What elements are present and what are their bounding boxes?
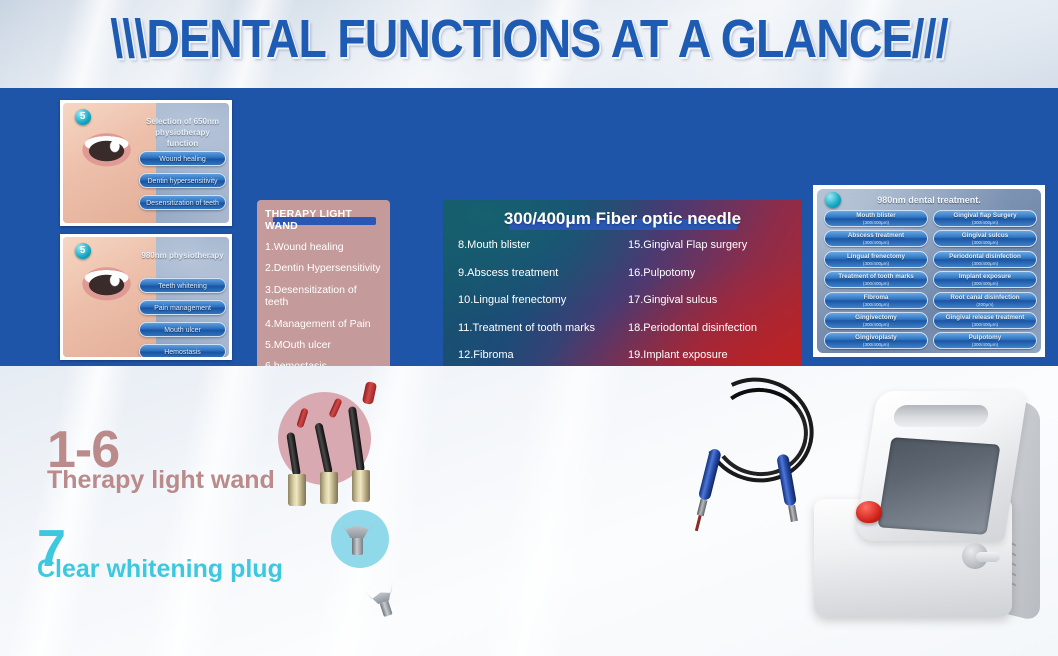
features-blue-band: 5 Selection of 650nm physiotherapy funct… bbox=[0, 88, 1058, 366]
980nm-button-column-right: Gingival flap Surgery (300/400μm) Gingiv… bbox=[933, 210, 1037, 353]
980nm-button-label: Abscess treatment bbox=[825, 231, 927, 240]
980nm-button-spec: (300/400μm) bbox=[934, 342, 1036, 348]
fiber-list-item: 8.Mouth blister bbox=[458, 240, 618, 251]
980nm-button-spec: (300/400μm) bbox=[934, 240, 1036, 246]
980nm-button-label: Gingivoplasty bbox=[825, 333, 927, 342]
page-header: \\\DENTAL FUNCTIONS AT A GLANCE/// bbox=[0, 0, 1058, 88]
980nm-card-title: 980nm dental treatment. bbox=[817, 195, 1041, 205]
therapy-light-wand-heading: THERAPY LIGHT WAND bbox=[265, 208, 382, 232]
980nm-button[interactable]: Gingivoplasty (300/400μm) bbox=[824, 332, 928, 349]
980nm-button-spec: (300/400μm) bbox=[934, 220, 1036, 226]
wand-list-item: 1.Wound healing bbox=[265, 241, 382, 253]
980nm-button-label: Fibroma bbox=[825, 293, 927, 302]
wand-base bbox=[352, 470, 370, 502]
whitening-plug-funnel bbox=[363, 580, 403, 620]
pill-button[interactable]: Hemostasis bbox=[139, 344, 225, 357]
group-label-clear-whitening-plug: Clear whitening plug bbox=[37, 555, 283, 584]
wand-base bbox=[288, 474, 306, 506]
wand-list-item: 3.Desensitization of teeth bbox=[265, 284, 382, 309]
fiber-list-item: 19.Implant exposure bbox=[628, 350, 802, 361]
fiber-list-item: 10.Lingual frenectomy bbox=[458, 295, 618, 306]
badge-icon: 5 bbox=[75, 243, 91, 259]
pill-button[interactable]: Teeth whitening bbox=[139, 278, 225, 293]
pill-button[interactable]: Pain management bbox=[139, 300, 225, 315]
980nm-button[interactable]: Lingual frenectomy (300/400μm) bbox=[824, 251, 928, 268]
980nm-button-label: Gingival sulcus bbox=[934, 231, 1036, 240]
980nm-dental-treatment-card: 980nm dental treatment. Mouth blister (3… bbox=[813, 185, 1045, 357]
fiber-list-item: 16.Pulpotomy bbox=[628, 268, 802, 279]
980nm-button-spec: (300/400μm) bbox=[825, 342, 927, 348]
wand-body bbox=[286, 432, 301, 477]
photo-card-650nm: 5 Selection of 650nm physiotherapy funct… bbox=[60, 100, 232, 226]
card-title-650nm: Selection of 650nm physiotherapy functio… bbox=[139, 117, 225, 149]
980nm-button-spec: (300/400μm) bbox=[934, 261, 1036, 267]
980nm-button-label: Root canal disinfection bbox=[934, 293, 1036, 302]
980nm-button[interactable]: Gingival flap Surgery (300/400μm) bbox=[933, 210, 1037, 227]
980nm-button[interactable]: Pulpotomy (300/400μm) bbox=[933, 332, 1037, 349]
980nm-button-spec: (300/400μm) bbox=[934, 281, 1036, 287]
980nm-button-label: Mouth blister bbox=[825, 211, 927, 220]
980nm-button-spec: (300/400μm) bbox=[825, 281, 927, 287]
fiber-list-item: 9.Abscess treatment bbox=[458, 268, 618, 279]
therapy-wand-photo bbox=[352, 394, 370, 502]
980nm-button[interactable]: Gingival release treatment (300/400μm) bbox=[933, 312, 1037, 329]
pill-button[interactable]: Wound healing bbox=[139, 151, 225, 166]
980nm-button-label: Gingivectomy bbox=[825, 313, 927, 322]
980nm-button[interactable]: Mouth blister (300/400μm) bbox=[824, 210, 928, 227]
980nm-button-label: Treatment of tooth marks bbox=[825, 272, 927, 281]
980nm-button-spec: (300/400μm) bbox=[825, 261, 927, 267]
980nm-button-label: Implant exposure bbox=[934, 272, 1036, 281]
pill-button[interactable]: Desensitization of teeth bbox=[139, 195, 225, 210]
pill-button[interactable]: Mouth ulcer bbox=[139, 322, 225, 337]
group-label-therapy-light-wand: Therapy light wand bbox=[47, 466, 275, 495]
980nm-button-spec: (300/400μm) bbox=[825, 220, 927, 226]
wand-list-item: 5.MOuth ulcer bbox=[265, 339, 382, 351]
980nm-button[interactable]: Gingival sulcus (300/400μm) bbox=[933, 230, 1037, 247]
product-showcase-section: 1-6 Therapy light wand 7 Clear whitening… bbox=[0, 366, 1058, 656]
980nm-button-spec: (300/400μm) bbox=[934, 322, 1036, 328]
wand-list-item: 4.Management of Pain bbox=[265, 318, 382, 330]
card-title-980nm: 980nm physiotherapy bbox=[139, 251, 225, 262]
wand-base bbox=[320, 472, 338, 504]
page-title: \\\DENTAL FUNCTIONS AT A GLANCE/// bbox=[74, 8, 984, 70]
980nm-button[interactable]: Abscess treatment (300/400μm) bbox=[824, 230, 928, 247]
emergency-stop-button[interactable] bbox=[856, 501, 882, 523]
machine-handle bbox=[892, 405, 989, 427]
980nm-button[interactable]: Implant exposure (300/400μm) bbox=[933, 271, 1037, 288]
980nm-button-spec: (300/400μm) bbox=[825, 322, 927, 328]
fiber-list-item: 15.Gingival Flap surgery bbox=[628, 240, 802, 251]
980nm-button-spec: (300/400μm) bbox=[825, 302, 927, 308]
980nm-button-spec: (300/400μm) bbox=[825, 240, 927, 246]
980nm-button[interactable]: Periodontal disinfection (300/400μm) bbox=[933, 251, 1037, 268]
980nm-button-spec: (200μm) bbox=[934, 302, 1036, 308]
980nm-button-column-left: Mouth blister (300/400μm) Abscess treatm… bbox=[824, 210, 928, 353]
therapy-wand-photo bbox=[320, 406, 338, 504]
fiber-list-item: 11.Treatment of tooth marks bbox=[458, 323, 618, 334]
980nm-button[interactable]: Treatment of tooth marks (300/400μm) bbox=[824, 271, 928, 288]
980nm-button-label: Pulpotomy bbox=[934, 333, 1036, 342]
fiber-list-item: 17.Gingival sulcus bbox=[628, 295, 802, 306]
980nm-button[interactable]: Root canal disinfection (200μm) bbox=[933, 292, 1037, 309]
dental-laser-machine bbox=[810, 391, 1042, 641]
wand-list-item: 2.Dentin Hypersensitivity bbox=[265, 262, 382, 274]
980nm-button[interactable]: Fibroma (300/400μm) bbox=[824, 292, 928, 309]
badge-icon: 5 bbox=[75, 109, 91, 125]
fiber-list-item: 18.Periodontal disinfection bbox=[628, 323, 802, 334]
pill-button[interactable]: Dentin hypersensitivity bbox=[139, 173, 225, 188]
fiber-cable bbox=[702, 378, 820, 496]
980nm-button-label: Gingival flap Surgery bbox=[934, 211, 1036, 220]
therapy-wand-photo bbox=[288, 414, 306, 506]
whitening-plug-funnel bbox=[338, 516, 376, 555]
fiber-list-item: 12.Fibroma bbox=[458, 350, 618, 361]
980nm-button[interactable]: Gingivectomy (300/400μm) bbox=[824, 312, 928, 329]
fiber-output-port[interactable] bbox=[962, 543, 988, 569]
wand-tip bbox=[362, 381, 377, 405]
980nm-button-label: Lingual frenectomy bbox=[825, 252, 927, 261]
980nm-button-label: Periodontal disinfection bbox=[934, 252, 1036, 261]
fiber-panel-title: 300/400μm Fiber optic needle bbox=[443, 209, 802, 229]
photo-card-980nm: 5 980nm physiotherapy Teeth whitening Pa… bbox=[60, 234, 232, 360]
machine-touchscreen[interactable] bbox=[877, 437, 1000, 535]
980nm-button-label: Gingival release treatment bbox=[934, 313, 1036, 322]
